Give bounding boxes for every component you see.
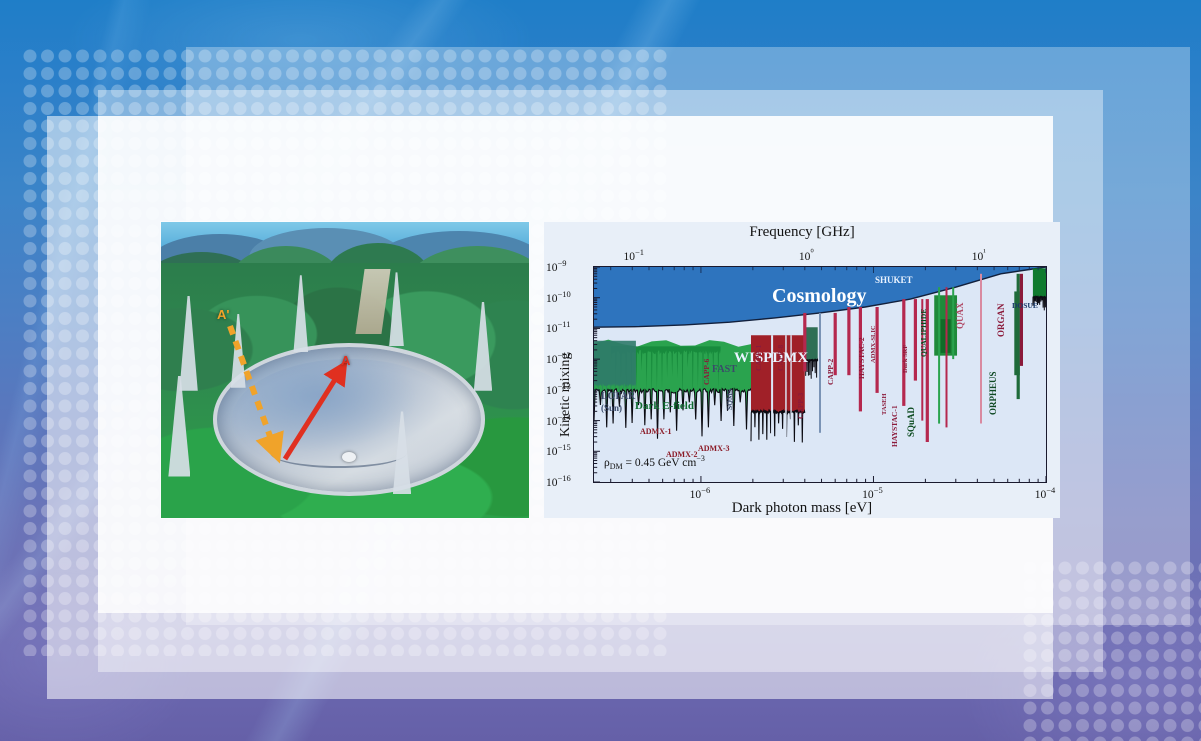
plot-top-axis-title: Frequency [GHz] bbox=[544, 224, 1060, 241]
x-tick-2: 10−4 bbox=[1035, 485, 1056, 501]
top-tick-0: 10−1 bbox=[623, 247, 644, 263]
bar-capp-8 bbox=[847, 307, 850, 375]
bar-taseh bbox=[921, 299, 923, 421]
y-tick-7: 10−16 bbox=[546, 473, 571, 489]
y-tick-5: 10−14 bbox=[546, 412, 571, 428]
arrow-a bbox=[285, 370, 341, 459]
admx-gap-2 bbox=[790, 335, 791, 482]
photo-annotation-arrows bbox=[161, 222, 529, 518]
slide: A' A Frequency [GHz] Dark photon mass [e… bbox=[0, 0, 1201, 741]
x-tick-1: 10−5 bbox=[862, 485, 883, 501]
bar-sqms bbox=[819, 313, 821, 433]
plot-data-area bbox=[594, 267, 1046, 482]
arrow-a-prime bbox=[230, 326, 275, 450]
bar-quax bbox=[980, 274, 982, 424]
bar-haystac-2 bbox=[902, 299, 905, 406]
admx-gap-0 bbox=[771, 335, 773, 482]
plot-frame: CosmologyWISPDMXLOFAR(Sun)Dark E-fieldAD… bbox=[593, 266, 1047, 483]
bar-squad bbox=[938, 287, 940, 423]
top-tick-1: 10⁰ bbox=[799, 247, 814, 263]
top-tick-2: 10¹ bbox=[972, 247, 986, 263]
y-tick-6: 10−15 bbox=[546, 442, 571, 458]
photo-label-a-prime: A' bbox=[217, 307, 229, 322]
bar-orpheus bbox=[1017, 274, 1020, 399]
bar-capp-3 bbox=[859, 307, 862, 411]
bar-haystac-1 bbox=[926, 299, 929, 442]
bar-dark-srf bbox=[946, 287, 948, 427]
bar-capp-2 bbox=[876, 307, 879, 393]
x-tick-0: 10−6 bbox=[690, 485, 711, 501]
y-tick-3: 10−12 bbox=[546, 350, 571, 366]
y-tick-1: 10−10 bbox=[546, 289, 571, 305]
plot-x-axis-title: Dark photon mass [eV] bbox=[544, 500, 1060, 517]
y-tick-2: 10−11 bbox=[546, 319, 570, 335]
y-tick-0: 10−9 bbox=[546, 258, 567, 274]
admx-gap-1 bbox=[785, 335, 786, 482]
y-tick-4: 10−13 bbox=[546, 381, 571, 397]
bar-organ bbox=[1020, 274, 1023, 366]
photo-label-a: A bbox=[341, 353, 350, 368]
bar-qualiphide bbox=[952, 287, 954, 359]
dark-photon-exclusion-plot: Frequency [GHz] Dark photon mass [eV] Ki… bbox=[544, 222, 1060, 518]
fast-telescope-photo: A' A bbox=[161, 222, 529, 518]
bar-capp-1 bbox=[834, 313, 837, 375]
bar-admx-slic bbox=[914, 299, 917, 381]
bar-capp-6 bbox=[803, 313, 806, 372]
plot-density-annotation: ρDM = 0.45 GeV cm−3 bbox=[604, 454, 705, 471]
